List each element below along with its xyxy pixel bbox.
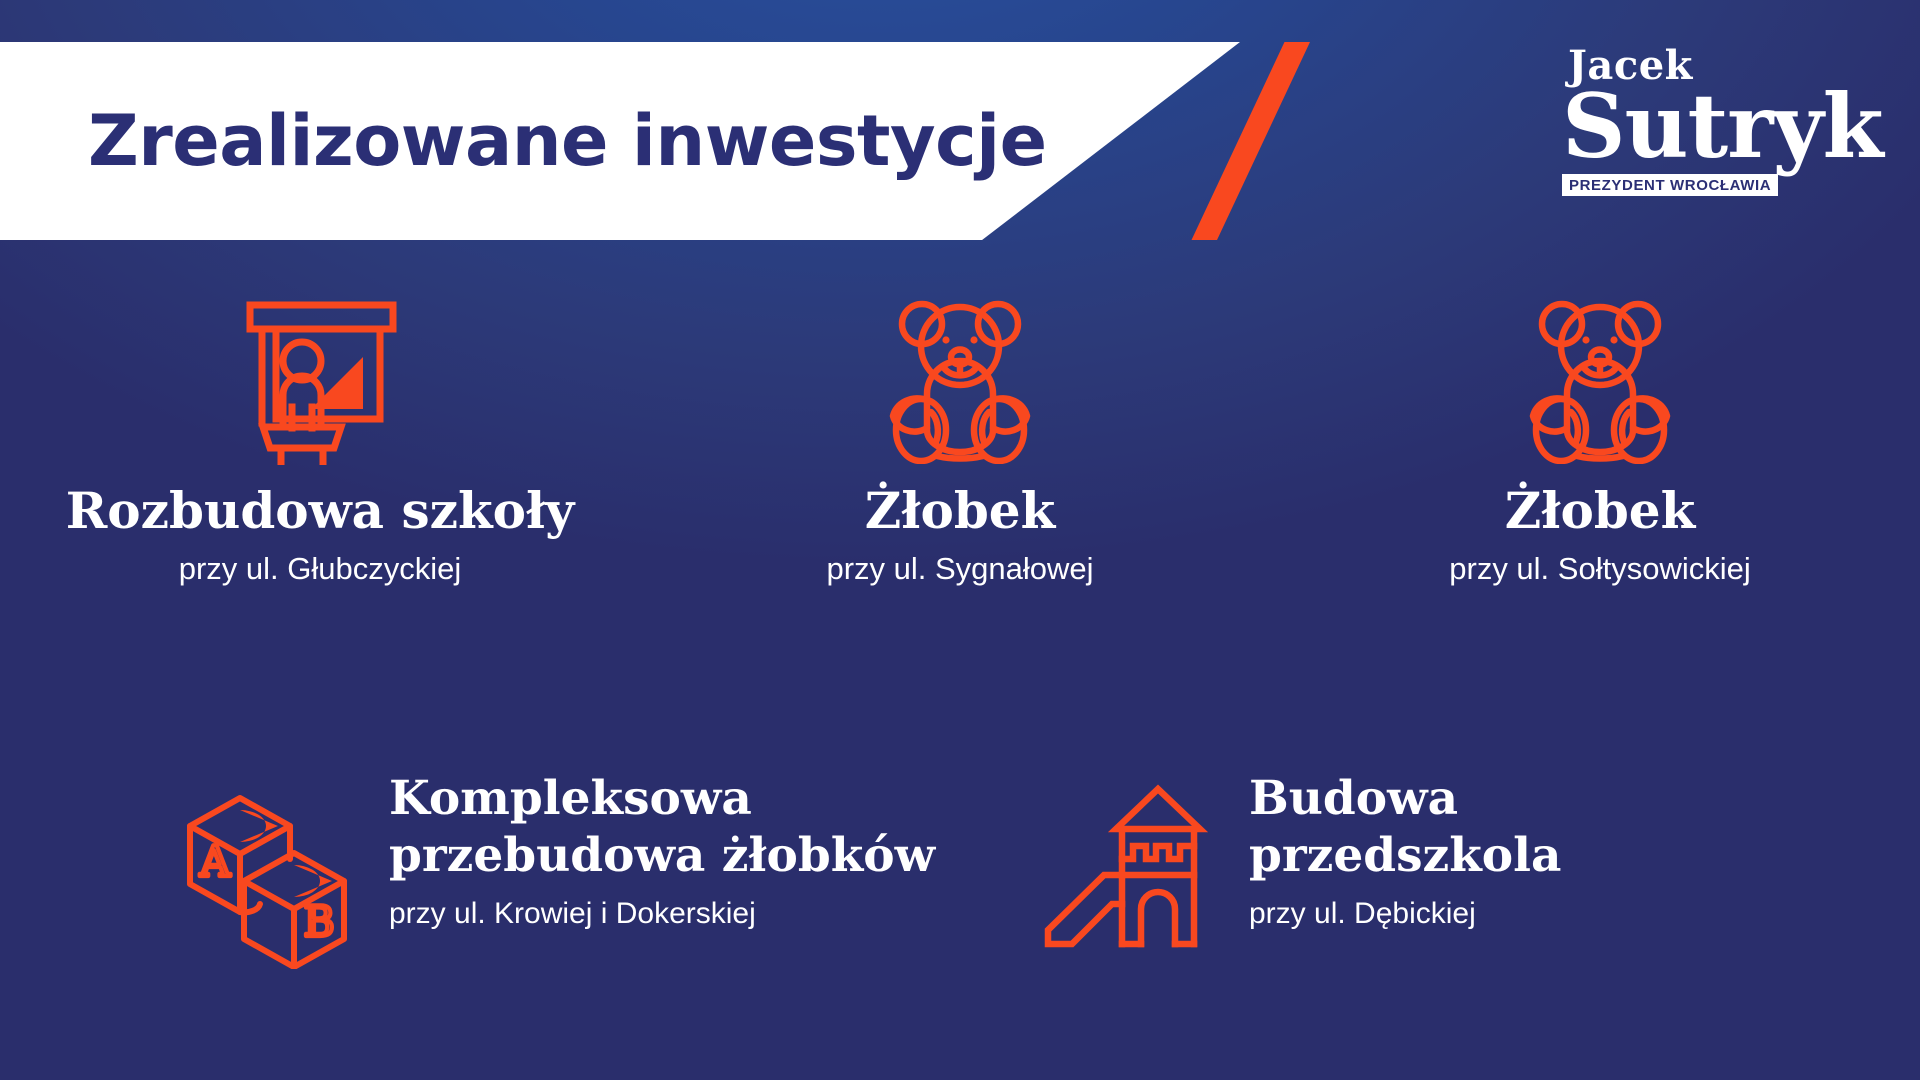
svg-text:A: A	[199, 837, 231, 886]
investment-title-line-2: przedszkola	[1249, 827, 1561, 884]
school-presentation-icon	[230, 290, 410, 470]
investment-text-block: Kompleksowa przebudowa żłobków przy ul. …	[389, 770, 935, 931]
investment-title-line-2: przebudowa żłobków	[389, 827, 935, 884]
building-blocks-icon: A B	[178, 770, 353, 969]
logo-jacek-sutryk: Jacek Sutryk PREZYDENT WROCŁAWIA	[1562, 46, 1872, 196]
investment-title-line-1: Budowa	[1249, 770, 1561, 827]
investments-row-bottom: A B Kompleksowa przebudowa żłobków przy …	[0, 770, 1920, 969]
investment-card-nursery-soltysowicka: Żłobek przy ul. Sołtysowickiej	[1280, 290, 1920, 587]
investment-card-school: Rozbudowa szkoły przy ul. Głubczyckiej	[0, 290, 640, 587]
investments-row-top: Rozbudowa szkoły przy ul. Głubczyckiej	[0, 290, 1920, 587]
investment-subtitle: przy ul. Krowiej i Dokerskiej	[389, 897, 935, 931]
investment-title-line-1: Kompleksowa	[389, 770, 935, 827]
investment-title: Żłobek	[1505, 484, 1696, 537]
investment-card-kindergarten: Budowa przedszkola przy ul. Dębickiej	[1038, 770, 1561, 969]
playground-slide-icon	[1038, 770, 1213, 954]
investment-card-nursery-sygnalowa: Żłobek przy ul. Sygnałowej	[640, 290, 1280, 587]
investment-subtitle: przy ul. Głubczyckiej	[179, 551, 462, 587]
logo-last-name: Sutryk	[1562, 82, 1872, 170]
investment-title: Rozbudowa szkoły	[66, 484, 575, 537]
investment-subtitle: przy ul. Sołtysowickiej	[1449, 551, 1750, 587]
page-title: Zrealizowane inwestycje	[88, 100, 1047, 182]
investment-title: Żłobek	[865, 484, 1056, 537]
teddy-bear-icon	[1515, 290, 1685, 470]
svg-text:B: B	[304, 897, 335, 946]
investment-subtitle: przy ul. Sygnałowej	[826, 551, 1093, 587]
investment-text-block: Budowa przedszkola przy ul. Dębickiej	[1249, 770, 1561, 931]
header-banner: Zrealizowane inwestycje	[0, 42, 1330, 240]
investment-card-nursery-rebuild: A B Kompleksowa przebudowa żłobków przy …	[178, 770, 1038, 969]
investment-subtitle: przy ul. Dębickiej	[1249, 897, 1561, 931]
teddy-bear-icon	[875, 290, 1045, 470]
